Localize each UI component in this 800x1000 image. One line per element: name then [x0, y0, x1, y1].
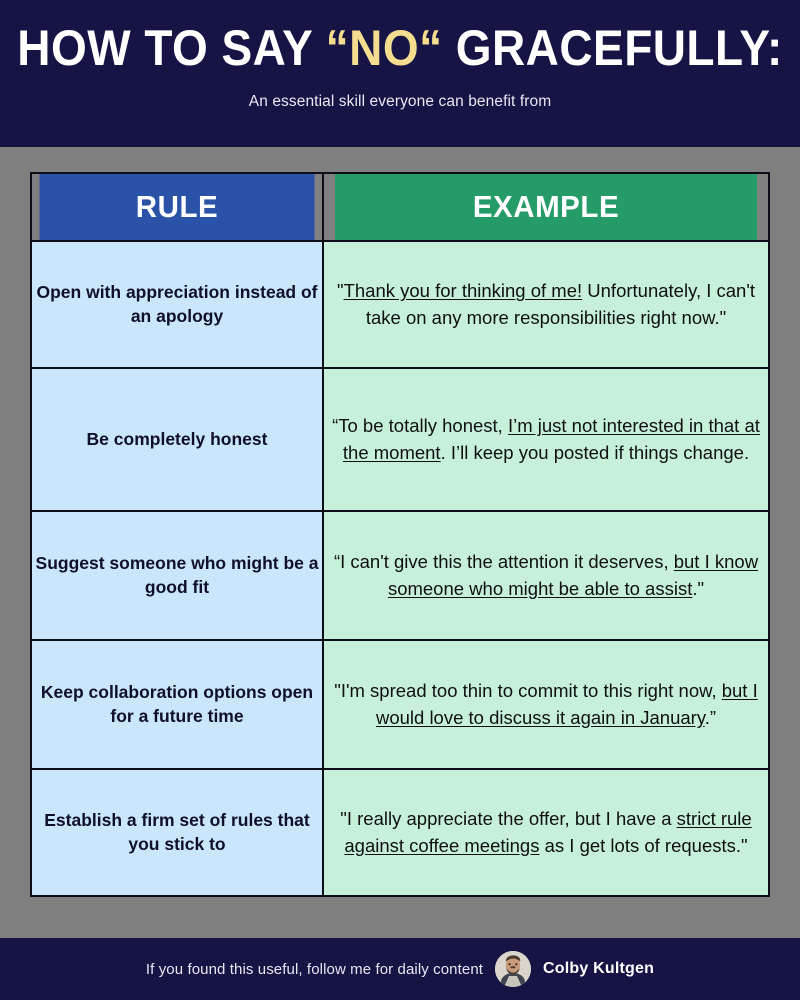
table-header-row: RULE EXAMPLE — [31, 173, 769, 241]
example-cell: "Thank you for thinking of me! Unfortuna… — [323, 241, 769, 368]
rule-cell: Open with appreciation instead of an apo… — [31, 241, 323, 368]
poster-footer: If you found this useful, follow me for … — [0, 938, 800, 1000]
infographic-poster: How to Say “NO“ Gracefully: An essential… — [0, 0, 800, 1000]
example-cell: "I'm spread too thin to commit to this r… — [323, 640, 769, 769]
example-text-post: . I’ll keep you posted if things change. — [441, 442, 750, 463]
author-name: Colby Kultgen — [543, 960, 654, 978]
column-header-rule: RULE — [38, 173, 315, 241]
title-part-2: Gracefully: — [442, 20, 782, 76]
column-header-example: EXAMPLE — [334, 173, 758, 241]
poster-header: How to Say “NO“ Gracefully: An essential… — [0, 0, 800, 147]
example-text-pre: “I can't give this the attention it dese… — [334, 551, 674, 572]
page-subtitle: An essential skill everyone can benefit … — [249, 93, 552, 111]
title-part-1: How to Say — [17, 20, 325, 76]
example-cell: “I can't give this the attention it dese… — [323, 511, 769, 640]
avatar — [495, 951, 531, 987]
footer-cta-text: If you found this useful, follow me for … — [146, 961, 483, 978]
page-title: How to Say “NO“ Gracefully: — [17, 22, 783, 75]
example-text-pre: " — [337, 280, 344, 301]
table-row: Open with appreciation instead of an apo… — [31, 241, 769, 368]
example-cell: "I really appreciate the offer, but I ha… — [323, 769, 769, 896]
rules-table: RULE EXAMPLE Open with appreciation inst… — [30, 172, 770, 897]
rule-cell: Keep collaboration options open for a fu… — [31, 640, 323, 769]
example-cell: “To be totally honest, I’m just not inte… — [323, 368, 769, 511]
example-text-pre: “To be totally honest, — [332, 415, 508, 436]
rule-cell: Suggest someone who might be a good fit — [31, 511, 323, 640]
table-row: Keep collaboration options open for a fu… — [31, 640, 769, 769]
table-header: RULE EXAMPLE — [31, 173, 769, 241]
example-text-post: as I get lots of requests." — [539, 835, 747, 856]
example-text-post: .” — [705, 707, 716, 728]
table-row: Suggest someone who might be a good fit … — [31, 511, 769, 640]
poster-body: RULE EXAMPLE Open with appreciation inst… — [0, 147, 800, 938]
title-highlight-no: “NO“ — [326, 20, 443, 76]
example-text-underlined: Thank you for thinking of me! — [344, 280, 583, 301]
table-row: Be completely honest “To be totally hone… — [31, 368, 769, 511]
rule-cell: Establish a firm set of rules that you s… — [31, 769, 323, 896]
example-text-pre: "I'm spread too thin to commit to this r… — [334, 680, 721, 701]
example-text-pre: "I really appreciate the offer, but I ha… — [340, 808, 676, 829]
table-row: Establish a firm set of rules that you s… — [31, 769, 769, 896]
table-body: Open with appreciation instead of an apo… — [31, 241, 769, 896]
rule-cell: Be completely honest — [31, 368, 323, 511]
example-text-post: ." — [692, 578, 704, 599]
